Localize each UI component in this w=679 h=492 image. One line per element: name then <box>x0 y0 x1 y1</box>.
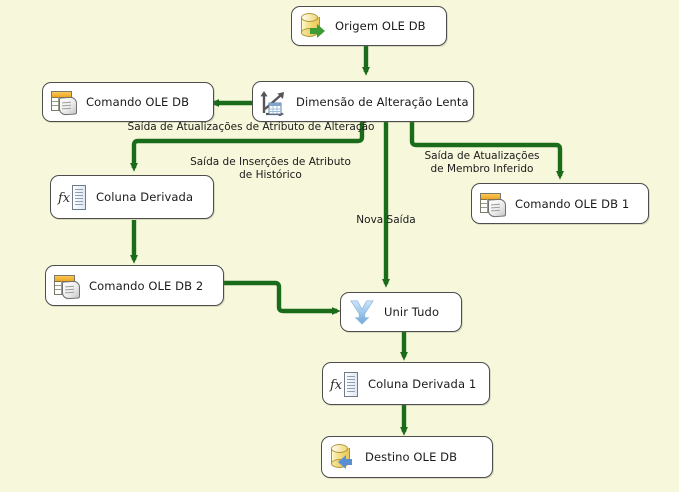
node-label: Comando OLE DB 1 <box>515 197 629 211</box>
ole-db-command-icon <box>50 88 78 116</box>
edge-comando-ole-db-2-to-unir-tudo <box>224 283 337 311</box>
node-label: Coluna Derivada 1 <box>368 377 476 391</box>
node-label: Dimensão de Alteração Lenta <box>296 95 469 109</box>
node-comando-ole-db-1[interactable]: Comando OLE DB 1 <box>471 183 649 224</box>
slowly-changing-dimension-icon <box>260 88 288 116</box>
node-label: Comando OLE DB 2 <box>89 279 203 293</box>
ole-db-destination-icon <box>329 443 357 471</box>
ole-db-command-icon <box>479 190 507 218</box>
edge-label-membro-inferido: Saída de Atualizações de Membro Inferido <box>392 150 572 175</box>
node-destino-ole-db[interactable]: Destino OLE DB <box>321 436 493 478</box>
node-coluna-derivada-1[interactable]: fx Coluna Derivada 1 <box>322 362 490 405</box>
derived-column-icon: fx <box>330 370 360 398</box>
node-comando-ole-db[interactable]: Comando OLE DB <box>42 82 214 122</box>
edge-label-atributo-historico: Saída de Inserções de Atributo de Histór… <box>158 156 383 181</box>
node-label: Destino OLE DB <box>365 450 457 464</box>
union-all-icon <box>348 298 376 326</box>
node-dimensao-alteracao-lenta[interactable]: Dimensão de Alteração Lenta <box>252 81 474 122</box>
node-unir-tudo[interactable]: Unir Tudo <box>340 292 462 332</box>
node-comando-ole-db-2[interactable]: Comando OLE DB 2 <box>45 265 224 306</box>
data-flow-canvas: Origem OLE DB Dimensão de Alteração Lent… <box>0 0 679 492</box>
ole-db-source-icon <box>299 12 327 40</box>
node-label: Coluna Derivada <box>96 190 193 204</box>
edge-label-nova-saida: Nova Saída <box>341 214 431 227</box>
node-coluna-derivada[interactable]: fx Coluna Derivada <box>50 175 214 219</box>
ole-db-command-icon <box>53 272 81 300</box>
connector-layer <box>0 0 679 492</box>
node-label: Comando OLE DB <box>86 95 189 109</box>
node-label: Unir Tudo <box>384 305 439 319</box>
derived-column-icon: fx <box>58 183 88 211</box>
edge-label-atributo-alteracao: Saída de Atualizações de Atributo de Alt… <box>106 121 396 134</box>
node-label: Origem OLE DB <box>335 19 426 33</box>
node-origem-ole-db[interactable]: Origem OLE DB <box>291 6 447 46</box>
